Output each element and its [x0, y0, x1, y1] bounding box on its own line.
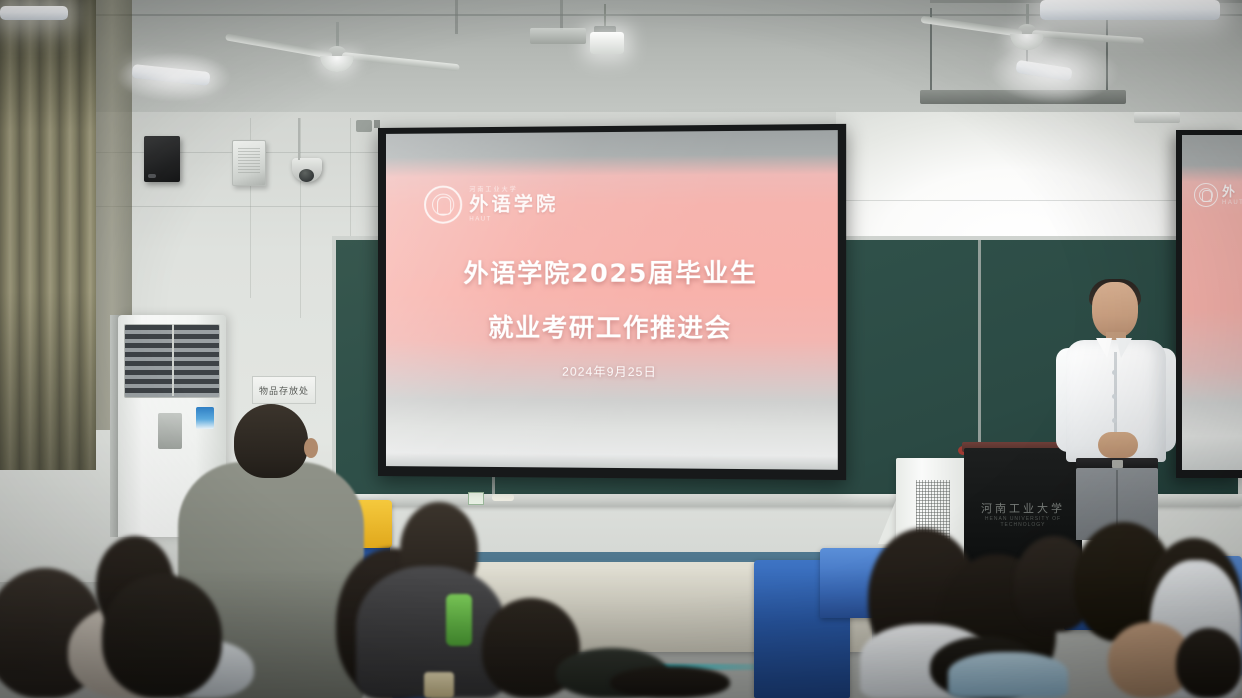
- secondary-logo-abbr: HAUT: [1222, 200, 1242, 206]
- slide-title-line-1: 外语学院2025届毕业生: [386, 253, 838, 290]
- ac-grille-divider: [172, 324, 174, 396]
- ceiling-seam: [560, 0, 563, 30]
- light-mount-bar: [920, 90, 1126, 104]
- slide-title-line-2: 就业考研工作推进会: [386, 308, 838, 345]
- fluorescent-tube-light-icon: [0, 6, 68, 20]
- haut-school-crest-icon: [424, 186, 462, 224]
- classroom-photo-scene: 物品存放处 外 HAUT 河南工业大学 外语学院 H: [0, 0, 1242, 698]
- light-hanger-rod: [1106, 8, 1108, 94]
- ceiling-fan-rod: [336, 22, 339, 48]
- wall-groove: [350, 118, 351, 238]
- cup-on-desk[interactable]: [424, 672, 454, 698]
- presenter-collar-right: [1116, 338, 1132, 358]
- presenter-head: [1092, 282, 1138, 338]
- screen-motor-housing: [356, 120, 372, 132]
- secondary-projection-screen: 外 HAUT: [1176, 130, 1242, 478]
- audience-head: [102, 574, 222, 698]
- projector-bracket: [530, 28, 586, 44]
- ceiling-fan-rod: [1026, 4, 1029, 26]
- projector-arm: [604, 4, 606, 28]
- presenter-person: [1054, 282, 1178, 540]
- main-projection-screen: 河南工业大学 外语学院 HAUT 外语学院2025届毕业生 就业考研工作推进会 …: [378, 124, 846, 480]
- storage-area-sign: 物品存放处: [252, 376, 316, 404]
- secondary-logo-text: 外 HAUT: [1222, 185, 1242, 206]
- slide-text-block: 外语学院2025届毕业生 就业考研工作推进会 2024年9月25日: [386, 253, 838, 381]
- wall-groove: [96, 206, 396, 207]
- chalk-stick[interactable]: [492, 494, 514, 501]
- camera-conduit: [298, 118, 300, 160]
- wall-speaker-white-icon: [232, 140, 266, 186]
- standing-attendee-head: [234, 404, 308, 478]
- audience-torso: [948, 652, 1068, 698]
- wall-groove: [300, 118, 301, 318]
- slide-date: 2024年9月25日: [386, 362, 838, 381]
- fluorescent-tube-light-icon: [1040, 0, 1220, 20]
- curtain-shading: [0, 0, 96, 470]
- haut-school-crest-icon: [1194, 183, 1218, 207]
- presenter-clasped-hands: [1098, 432, 1138, 458]
- water-bottle[interactable]: [446, 594, 472, 646]
- standing-attendee-ear: [304, 438, 318, 458]
- ceiling-projector-icon: [590, 32, 624, 54]
- presenter-collar-left: [1096, 338, 1112, 358]
- screen-case: [374, 120, 380, 128]
- presenter-shirt-button: [1112, 418, 1117, 423]
- slide-university-name: 河南工业大学: [469, 186, 558, 193]
- audience-head: [1176, 628, 1242, 698]
- presenter-belt-buckle: [1112, 460, 1123, 468]
- chalk-box[interactable]: [468, 492, 484, 505]
- secondary-screen-logo: 外 HAUT: [1194, 183, 1242, 207]
- presenter-shirt-button: [1112, 394, 1117, 399]
- secondary-school-name: 外: [1222, 185, 1242, 198]
- presenter-shirt-button: [1112, 370, 1117, 375]
- slide-school-name: 外语学院: [469, 195, 558, 215]
- secondary-screen-surface: 外 HAUT: [1182, 135, 1242, 470]
- slide-logo: 河南工业大学 外语学院 HAUT: [424, 185, 558, 224]
- slide-logo-text: 河南工业大学 外语学院 HAUT: [469, 186, 558, 222]
- screen-roller-housing: [1134, 112, 1180, 123]
- audience-head: [610, 666, 730, 698]
- wall-speaker-black-icon: [144, 136, 180, 182]
- slide-surface: 河南工业大学 外语学院 HAUT 外语学院2025届毕业生 就业考研工作推进会 …: [386, 130, 838, 470]
- ceiling-seam: [455, 0, 458, 34]
- slide-logo-abbreviation: HAUT: [469, 216, 558, 222]
